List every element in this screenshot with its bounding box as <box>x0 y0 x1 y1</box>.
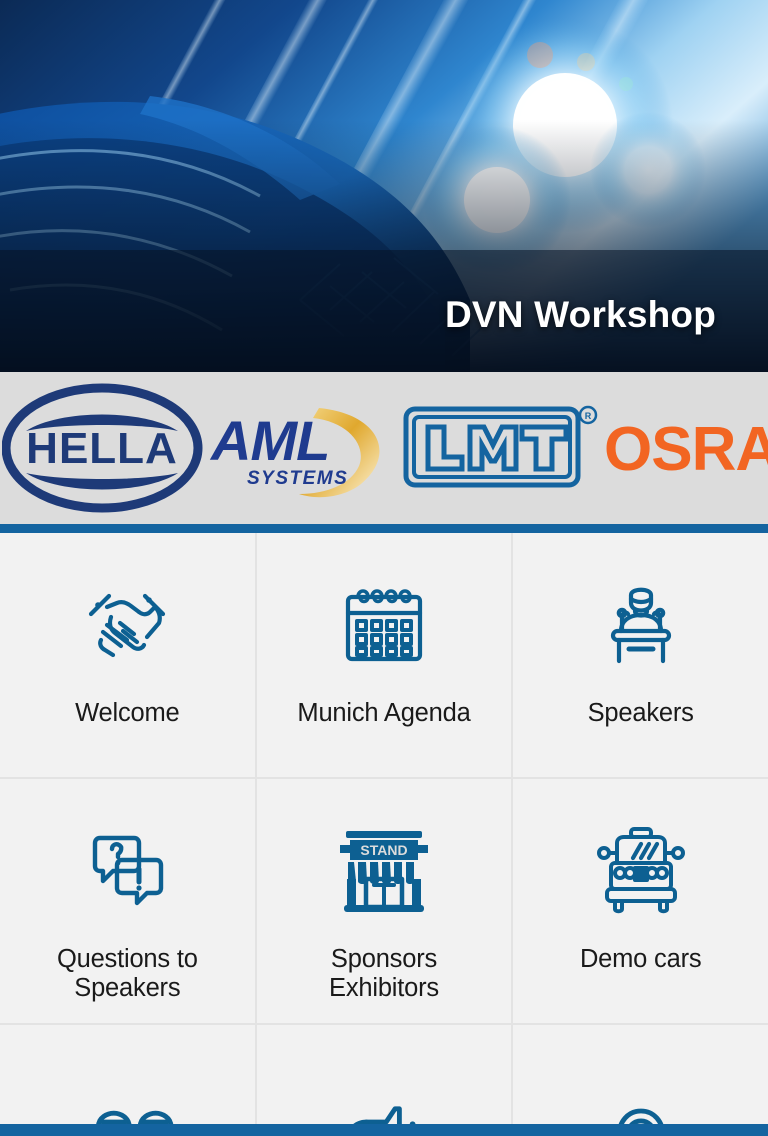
menu-item-label: Questions to Speakers <box>53 945 202 1004</box>
menu-item-label: Sponsors Exhibitors <box>325 945 443 1004</box>
lmt-logo: R <box>400 393 600 503</box>
car-front-icon <box>579 813 703 925</box>
svg-text:R: R <box>585 411 592 421</box>
menu-item-participants[interactable] <box>0 1025 255 1125</box>
menu-item-sponsors-exhibitors[interactable]: STAND <box>255 779 512 1023</box>
menu-item-munich-agenda[interactable]: Munich Agenda <box>255 533 512 777</box>
menu-item-speakers[interactable]: Speakers <box>511 533 768 777</box>
svg-text:AML: AML <box>209 409 329 472</box>
question-exclamation-speech-bubbles-icon <box>65 813 189 925</box>
menu-item-label: Demo cars <box>576 945 705 974</box>
bottom-navigation-bar <box>0 1124 768 1136</box>
app-screen: DVN Workshop HELLA <box>0 0 768 1136</box>
osram-logo: OSRAM <box>604 398 768 498</box>
section-divider <box>0 524 768 533</box>
menu-item-welcome[interactable]: Welcome <box>0 533 255 777</box>
menu-item-label-line1: Questions to <box>57 945 198 974</box>
menu-item-label: Munich Agenda <box>293 699 474 728</box>
speaker-podium-icon <box>579 567 703 679</box>
exhibition-stand-icon: STAND <box>322 813 446 925</box>
menu-item-demo-cars[interactable]: Demo cars <box>511 779 768 1023</box>
menu-grid-row <box>0 1025 768 1125</box>
svg-text:OSRAM: OSRAM <box>604 415 768 484</box>
sponsor-logo-bar: HELLA AML SYSTEMS <box>0 372 768 524</box>
menu-item-label-line2: Speakers <box>57 974 198 1003</box>
svg-text:SYSTEMS: SYSTEMS <box>247 468 348 489</box>
menu-grid: Welcome <box>0 533 768 1125</box>
menu-grid-row: Welcome <box>0 533 768 779</box>
menu-item-label-line2: Exhibitors <box>329 974 439 1003</box>
menu-grid-row: Questions to Speakers STAND <box>0 779 768 1025</box>
menu-item-label: Speakers <box>584 699 698 728</box>
calendar-icon <box>322 567 446 679</box>
menu-item-label: Welcome <box>71 699 183 728</box>
hella-logo: HELLA <box>2 383 207 513</box>
hero-banner: DVN Workshop <box>0 0 768 372</box>
aml-systems-logo: AML SYSTEMS <box>201 388 406 508</box>
menu-item-announcements[interactable] <box>255 1025 512 1125</box>
stand-label: STAND <box>360 842 407 858</box>
menu-item-label-line1: Sponsors <box>329 945 439 974</box>
page-title: DVN Workshop <box>445 294 716 336</box>
menu-item-location[interactable] <box>511 1025 768 1125</box>
handshake-icon <box>65 567 189 679</box>
menu-item-questions-to-speakers[interactable]: Questions to Speakers <box>0 779 255 1023</box>
